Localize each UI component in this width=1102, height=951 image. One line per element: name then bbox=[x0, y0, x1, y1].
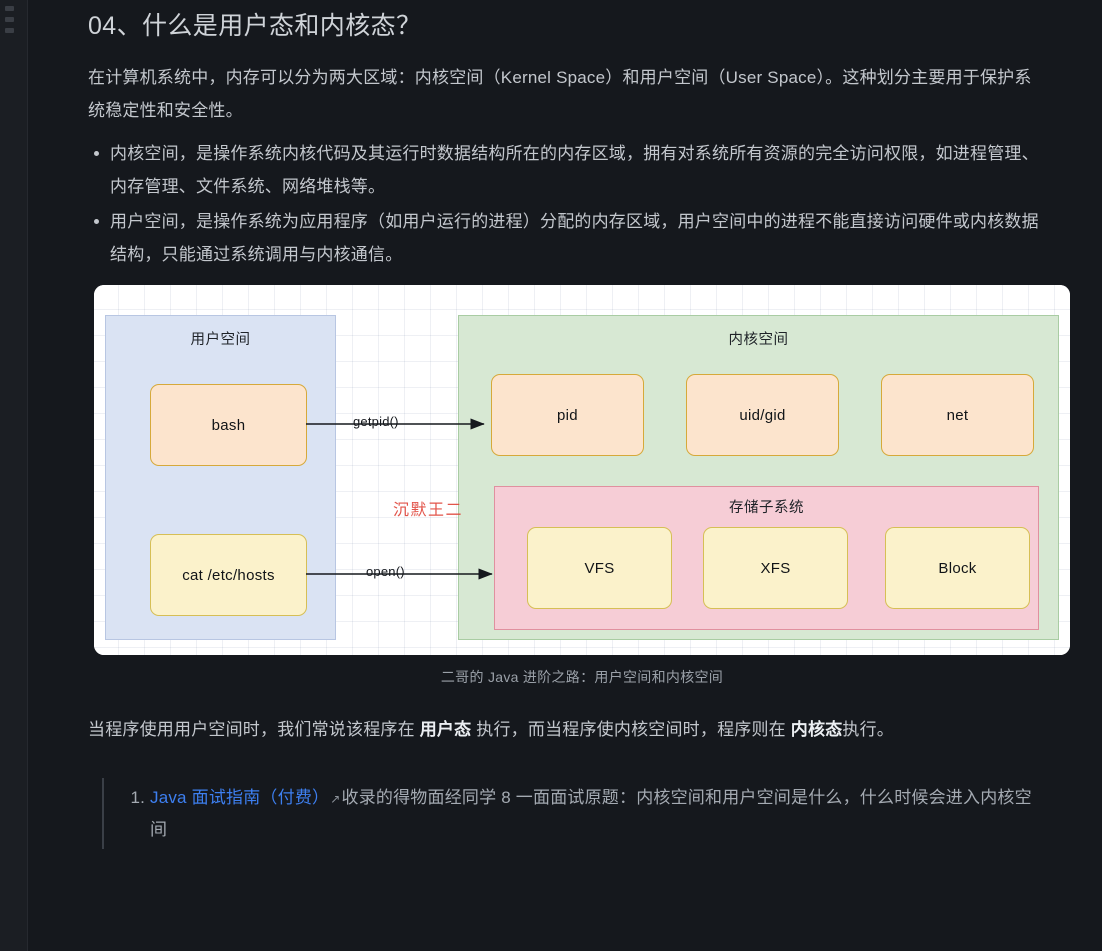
node-uid-gid[interactable]: uid/gid bbox=[686, 374, 839, 456]
list-item: 用户空间，是操作系统为应用程序（如用户运行的进程）分配的内存区域，用户空间中的进… bbox=[88, 205, 1042, 271]
left-rail: rail-mark-1 rail-mark-2 rail-mark-3 bbox=[0, 0, 28, 951]
panel-storage-subsystem: 存储子系统 VFS XFS Block bbox=[494, 486, 1039, 630]
closing-part-1: 当程序使用用户空间时，我们常说该程序在 bbox=[88, 720, 420, 739]
footnote-blockquote: Java 面试指南（付费）↗收录的得物面经同学 8 一面面试原题：内核空间和用户… bbox=[102, 778, 1042, 849]
diagram-caption: 二哥的 Java 进阶之路：用户空间和内核空间 bbox=[94, 655, 1070, 687]
article-content: 04、什么是用户态和内核态？ 在计算机系统中，内存可以分为两大区域：内核空间（K… bbox=[28, 0, 1102, 951]
closing-part-3: 执行。 bbox=[842, 720, 894, 739]
term-user-mode: 用户态 bbox=[420, 720, 472, 739]
page-root: rail-mark-1 rail-mark-2 rail-mark-3 04、什… bbox=[0, 0, 1102, 951]
footnote-item: Java 面试指南（付费）↗收录的得物面经同学 8 一面面试原题：内核空间和用户… bbox=[150, 782, 1042, 845]
diagram-figure: 用户空间 bash cat /etc/hosts 内核空间 pid uid/gi… bbox=[94, 285, 1042, 687]
watermark-text: 沉默王二 bbox=[393, 496, 463, 520]
node-bash[interactable]: bash bbox=[150, 384, 307, 466]
term-kernel-mode: 内核态 bbox=[791, 720, 843, 739]
list-item: 内核空间，是操作系统内核代码及其运行时数据结构所在的内存区域，拥有对系统所有资源… bbox=[88, 137, 1042, 203]
external-link-icon: ↗ bbox=[329, 792, 341, 806]
panel-title-kernel-space: 内核空间 bbox=[459, 316, 1058, 349]
rail-mark-icon: rail-mark-2 bbox=[5, 17, 14, 22]
closing-part-2: 执行，而当程序使内核空间时，程序则在 bbox=[471, 720, 790, 739]
node-vfs[interactable]: VFS bbox=[527, 527, 672, 609]
panel-kernel-space: 内核空间 pid uid/gid net 存储子系统 VFS XFS Block bbox=[458, 315, 1059, 640]
node-pid[interactable]: pid bbox=[491, 374, 644, 456]
node-block[interactable]: Block bbox=[885, 527, 1030, 609]
footnote-list: Java 面试指南（付费）↗收录的得物面经同学 8 一面面试原题：内核空间和用户… bbox=[124, 782, 1042, 845]
intro-paragraph: 在计算机系统中，内存可以分为两大区域：内核空间（Kernel Space）和用户… bbox=[88, 61, 1042, 127]
edge-label-open: open() bbox=[366, 564, 405, 579]
diagram-frame: 用户空间 bash cat /etc/hosts 内核空间 pid uid/gi… bbox=[94, 285, 1070, 655]
edge-label-getpid: getpid() bbox=[353, 414, 399, 429]
panel-user-space: 用户空间 bash cat /etc/hosts bbox=[105, 315, 336, 640]
panel-title-user-space: 用户空间 bbox=[106, 316, 335, 349]
node-net[interactable]: net bbox=[881, 374, 1034, 456]
diagram-canvas: 用户空间 bash cat /etc/hosts 内核空间 pid uid/gi… bbox=[94, 285, 1070, 655]
panel-title-storage-subsystem: 存储子系统 bbox=[495, 487, 1038, 517]
closing-paragraph: 当程序使用用户空间时，我们常说该程序在 用户态 执行，而当程序使内核空间时，程序… bbox=[88, 713, 1042, 746]
java-interview-guide-link[interactable]: Java 面试指南（付费） bbox=[150, 788, 329, 807]
rail-mark-icon: rail-mark-1 bbox=[5, 6, 14, 11]
node-cat-etc-hosts[interactable]: cat /etc/hosts bbox=[150, 534, 307, 616]
rail-mark-icon: rail-mark-3 bbox=[5, 28, 14, 33]
definition-list: 内核空间，是操作系统内核代码及其运行时数据结构所在的内存区域，拥有对系统所有资源… bbox=[88, 137, 1042, 272]
node-xfs[interactable]: XFS bbox=[703, 527, 848, 609]
rail-marks: rail-mark-1 rail-mark-2 rail-mark-3 bbox=[5, 6, 14, 33]
page-title: 04、什么是用户态和内核态？ bbox=[88, 0, 1042, 43]
